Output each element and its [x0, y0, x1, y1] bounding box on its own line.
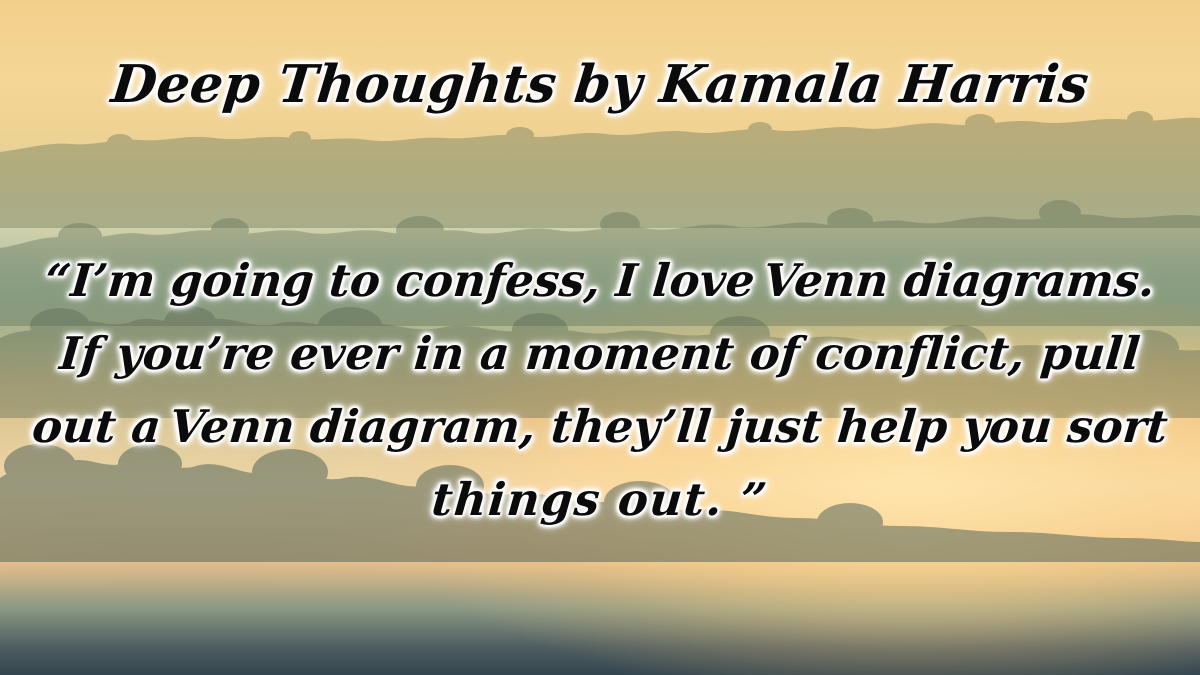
quote-line-2: If you’re ever in a moment of conflict, …	[0, 317, 1200, 390]
quote-line-4: things out. ”	[0, 463, 1200, 536]
quote-line-3: out a Venn diagram, they’ll just help yo…	[0, 390, 1200, 463]
quote-block: “I’m going to confess, I love Venn diagr…	[0, 244, 1200, 536]
poster-title: Deep Thoughts by Kamala Harris	[0, 58, 1200, 113]
text-overlay: Deep Thoughts by Kamala Harris “I’m goin…	[0, 0, 1200, 675]
quote-line-1: “I’m going to confess, I love Venn diagr…	[0, 244, 1200, 317]
quote-poster: Deep Thoughts by Kamala Harris “I’m goin…	[0, 0, 1200, 675]
